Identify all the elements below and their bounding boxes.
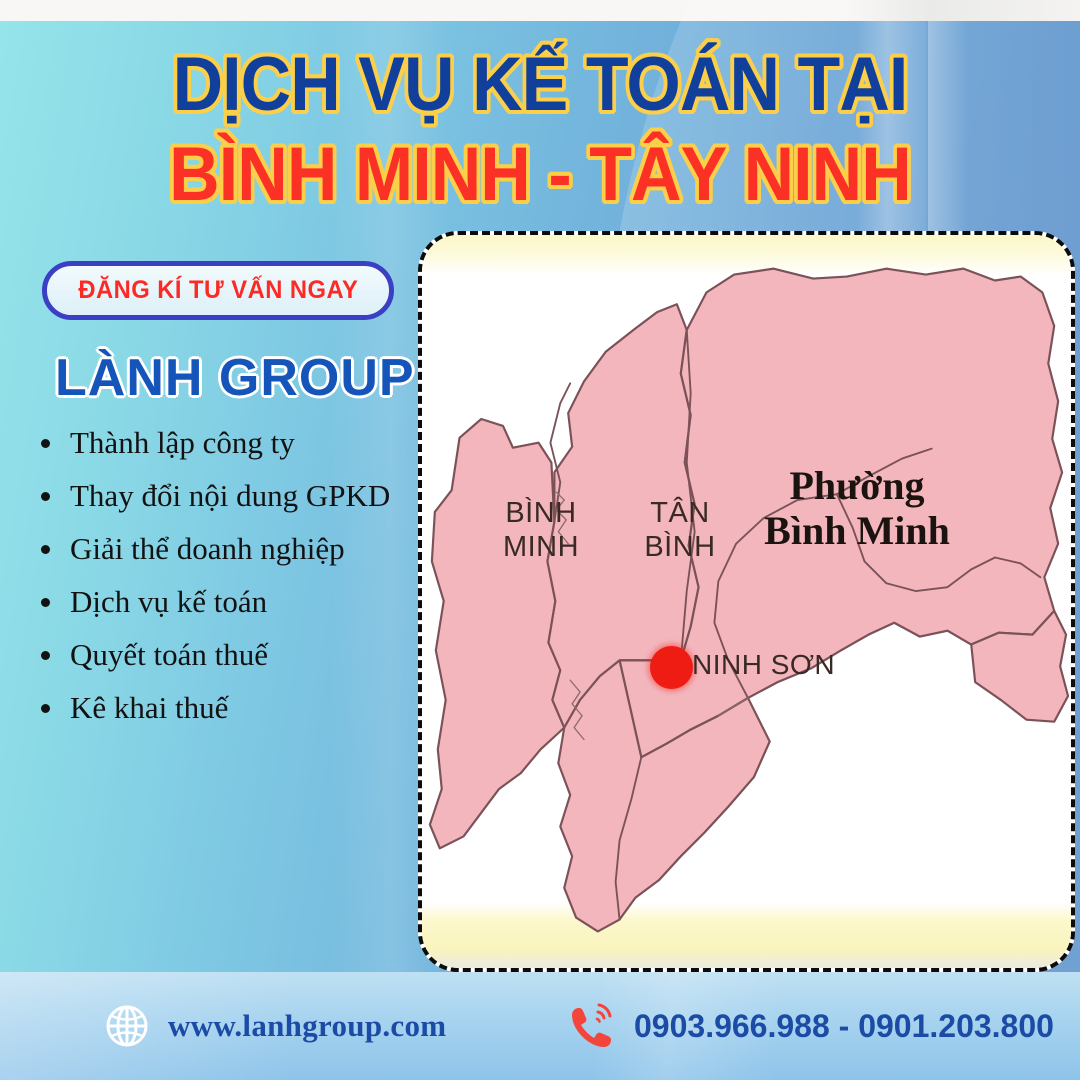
map-label-phuong-line2: Bình Minh — [712, 509, 1002, 554]
title-line-1: DỊCH VỤ KẾ TOÁN TẠI — [43, 46, 1037, 124]
footer-bar: www.lanhgroup.com 0903.966.988 - 0901.20… — [0, 972, 1080, 1080]
map-label-phuong-line1: Phường — [712, 464, 1002, 509]
list-item-label: Thành lập công ty — [70, 425, 295, 460]
bullet-dot-icon — [41, 439, 50, 448]
poster-canvas: DỊCH VỤ KẾ TOÁN TẠI BÌNH MINH - TÂY NINH… — [0, 0, 1080, 1080]
list-item-label: Kê khai thuế — [70, 690, 228, 725]
list-item: Thành lập công ty — [28, 425, 448, 461]
list-item: Kê khai thuế — [28, 690, 448, 726]
map-label-binh-minh: BÌNH MINH — [476, 496, 606, 564]
map-label-phuong-binh-minh: Phường Bình Minh — [712, 464, 1002, 554]
map-label-ninh-son: NINH SƠN — [692, 648, 835, 681]
footer-website-label: www.lanhgroup.com — [168, 1008, 446, 1044]
globe-icon — [104, 1003, 150, 1049]
list-item: Quyết toán thuế — [28, 637, 448, 673]
register-consultation-label: ĐĂNG KÍ TƯ VẤN NGAY — [78, 276, 358, 305]
list-item-label: Quyết toán thuế — [70, 637, 268, 672]
list-item: Giải thể doanh nghiệp — [28, 531, 448, 567]
bullet-dot-icon — [41, 704, 50, 713]
list-item-label: Dịch vụ kế toán — [70, 584, 267, 619]
footer-website-group[interactable]: www.lanhgroup.com — [104, 972, 446, 1080]
brand-name: LÀNH GROUP — [55, 348, 415, 408]
map-label-binh-minh-line2: MINH — [476, 530, 606, 564]
title-line-2: BÌNH MINH - TÂY NINH — [43, 136, 1037, 214]
phone-ringing-icon — [568, 1001, 618, 1051]
list-item: Thay đổi nội dung GPKD — [28, 478, 448, 514]
bullet-dot-icon — [41, 598, 50, 607]
footer-phone-label: 0903.966.988 - 0901.203.800 — [634, 1008, 1054, 1045]
list-item-label: Thay đổi nội dung GPKD — [70, 478, 390, 513]
map-illustration — [422, 235, 1071, 968]
background-top-strip — [0, 0, 1080, 21]
services-list: Thành lập công ty Thay đổi nội dung GPKD… — [28, 425, 448, 743]
map-marker-ninh-son-icon[interactable] — [650, 646, 693, 689]
map-card[interactable]: BÌNH MINH TÂN BÌNH Phường Bình Minh NINH… — [418, 231, 1075, 972]
page-title: DỊCH VỤ KẾ TOÁN TẠI BÌNH MINH - TÂY NINH — [0, 46, 1080, 213]
bullet-dot-icon — [41, 492, 50, 501]
list-item: Dịch vụ kế toán — [28, 584, 448, 620]
bullet-dot-icon — [41, 545, 50, 554]
register-consultation-button[interactable]: ĐĂNG KÍ TƯ VẤN NGAY — [42, 261, 394, 320]
list-item-label: Giải thể doanh nghiệp — [70, 531, 345, 566]
bullet-dot-icon — [41, 651, 50, 660]
map-label-binh-minh-line1: BÌNH — [476, 496, 606, 530]
footer-phone-group[interactable]: 0903.966.988 - 0901.203.800 — [568, 972, 1054, 1080]
